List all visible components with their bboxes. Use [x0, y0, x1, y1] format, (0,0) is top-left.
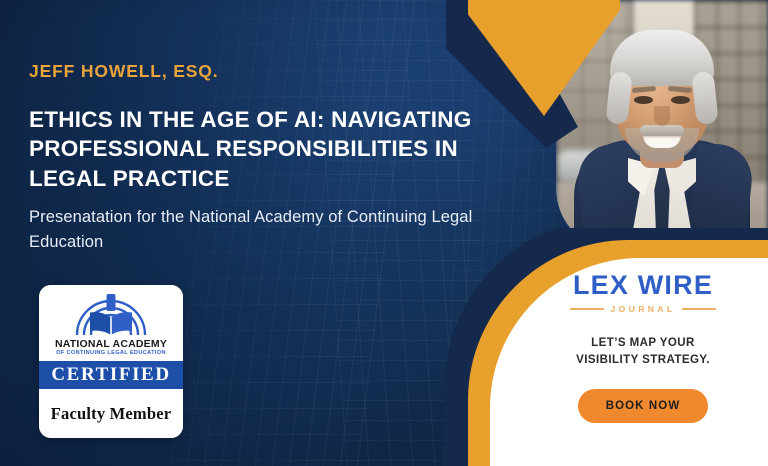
slide-subtitle: Presenatation for the National Academy o… [29, 205, 507, 255]
promo-tagline-line2: VISIBILITY STRATEGY. [576, 352, 710, 369]
promo-tagline-line1: LET’S MAP YOUR [576, 335, 710, 352]
presentation-slide: JEFF HOWELL, ESQ. Ethics in the Age of A… [0, 0, 768, 466]
nose [654, 106, 670, 126]
badge-header: NATIONAL ACADEMY OF CONTINUING LEGAL EDU… [39, 285, 183, 361]
lex-wire-logo-subrow: JOURNAL [570, 304, 717, 314]
badge-role-container: Faculty Member [39, 389, 183, 438]
page-title: Ethics in the Age of AI: Navigating Prof… [29, 105, 537, 193]
eye-left [634, 96, 653, 104]
promo-card: LEX WIRE JOURNAL LET’S MAP YOUR VISIBILI… [444, 228, 768, 466]
eye-right [671, 96, 690, 104]
logo-rule-right [682, 308, 716, 310]
speaker-name: JEFF HOWELL, ESQ. [29, 61, 218, 82]
mustache [640, 125, 684, 136]
badge-organization-sub: OF CONTINUING LEGAL EDUCATION [39, 351, 183, 361]
logo-rule-left [570, 308, 604, 310]
certified-faculty-badge: NATIONAL ACADEMY OF CONTINUING LEGAL EDU… [39, 285, 183, 438]
lex-wire-logo: LEX WIRE JOURNAL [570, 272, 717, 314]
badge-status: CERTIFIED [39, 361, 183, 389]
lex-wire-logo-subtitle: JOURNAL [611, 304, 676, 314]
promo-content: LEX WIRE JOURNAL LET’S MAP YOUR VISIBILI… [518, 266, 768, 466]
badge-role: Faculty Member [51, 404, 172, 424]
book-now-button[interactable]: BOOK NOW [578, 389, 709, 423]
open-book-seal-icon [65, 289, 157, 339]
lex-wire-logo-name: LEX WIRE [570, 272, 717, 299]
badge-organization: NATIONAL ACADEMY [39, 339, 183, 350]
promo-tagline: LET’S MAP YOUR VISIBILITY STRATEGY. [576, 335, 710, 368]
